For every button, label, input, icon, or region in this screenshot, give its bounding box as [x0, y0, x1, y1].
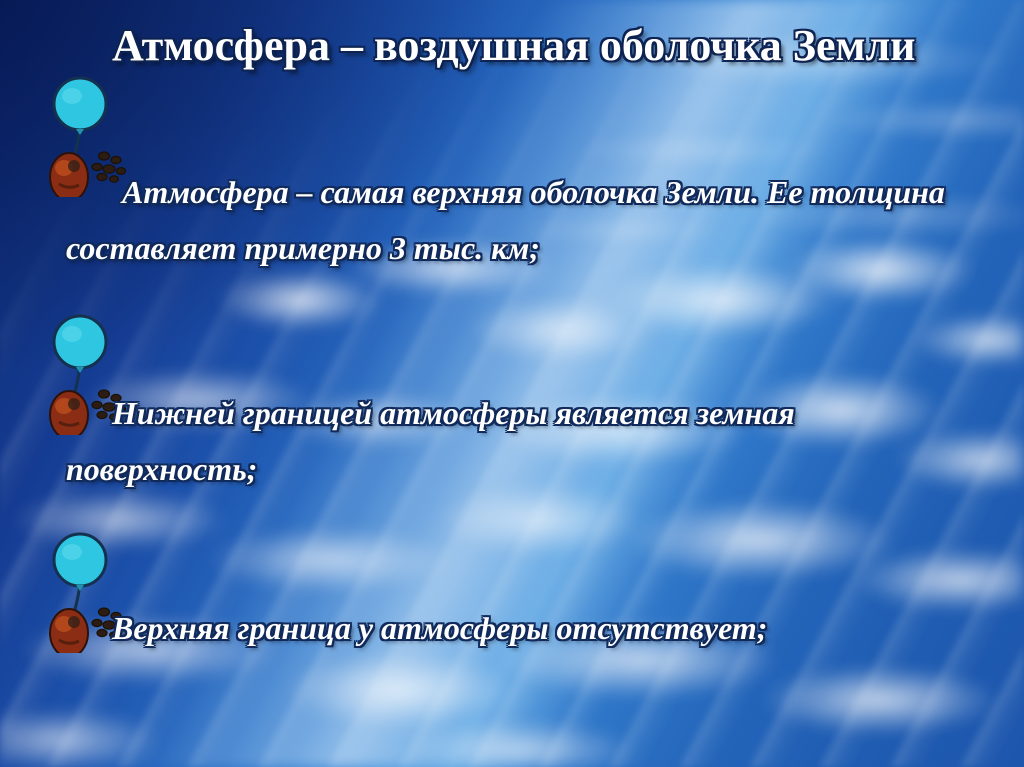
presentation-slide: Атмосфера – воздушная оболочка Земли: [0, 0, 1024, 767]
bullet-text-2: Нижней границей атмосферы является земна…: [66, 385, 946, 497]
slide-title: Атмосфера – воздушная оболочка Земли: [112, 20, 1017, 71]
bullet-text-1: Атмосфера – самая верхняя оболочка Земли…: [66, 164, 966, 276]
bullet-text-3: Верхняя граница у атмосферы отсутствует;: [112, 600, 992, 656]
